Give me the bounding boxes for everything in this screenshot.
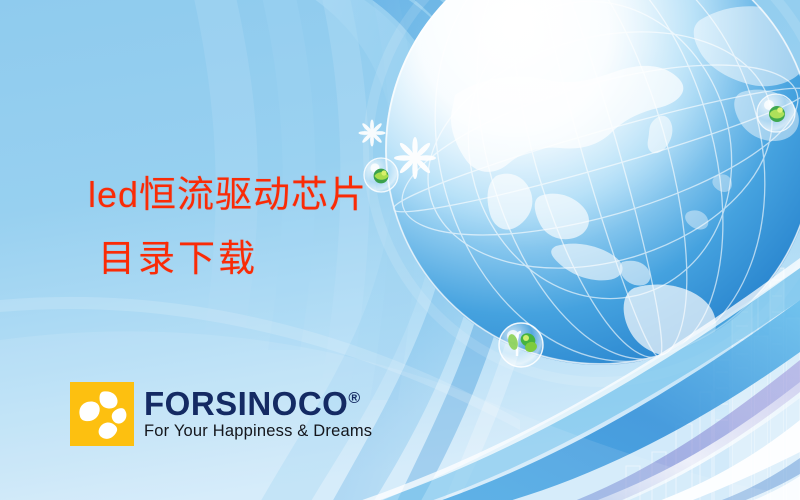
promotional-banner: led恒流驱动芯片 目录下载 FORSINOCO® For Your Happi… bbox=[0, 0, 800, 500]
logo-text-lockup: FORSINOCO® For Your Happiness & Dreams bbox=[144, 387, 372, 441]
logo-wordmark: FORSINOCO® bbox=[144, 387, 372, 421]
flower-sparkle-small bbox=[359, 120, 386, 147]
headline-cjk: 恒流驱动芯片 bbox=[139, 175, 367, 216]
bubble-leaf-icon bbox=[499, 323, 543, 367]
logo-tagline: For Your Happiness & Dreams bbox=[144, 422, 372, 441]
headline-line-2: 目录下载 bbox=[88, 228, 508, 292]
pinwheel-petals-icon bbox=[70, 382, 134, 446]
pinwheel-flower-mark bbox=[70, 382, 134, 446]
logo-wordmark-text: FORSINOCO bbox=[144, 385, 348, 422]
page-title: led恒流驱动芯片 目录下载 bbox=[88, 163, 508, 292]
brand-logo[interactable]: FORSINOCO® For Your Happiness & Dreams bbox=[70, 382, 372, 446]
registered-trademark-icon: ® bbox=[348, 390, 360, 407]
headline-line-1: led恒流驱动芯片 bbox=[88, 163, 508, 228]
headline-latin: led bbox=[88, 174, 139, 215]
bubble-globe-icon-top-right bbox=[757, 94, 795, 132]
